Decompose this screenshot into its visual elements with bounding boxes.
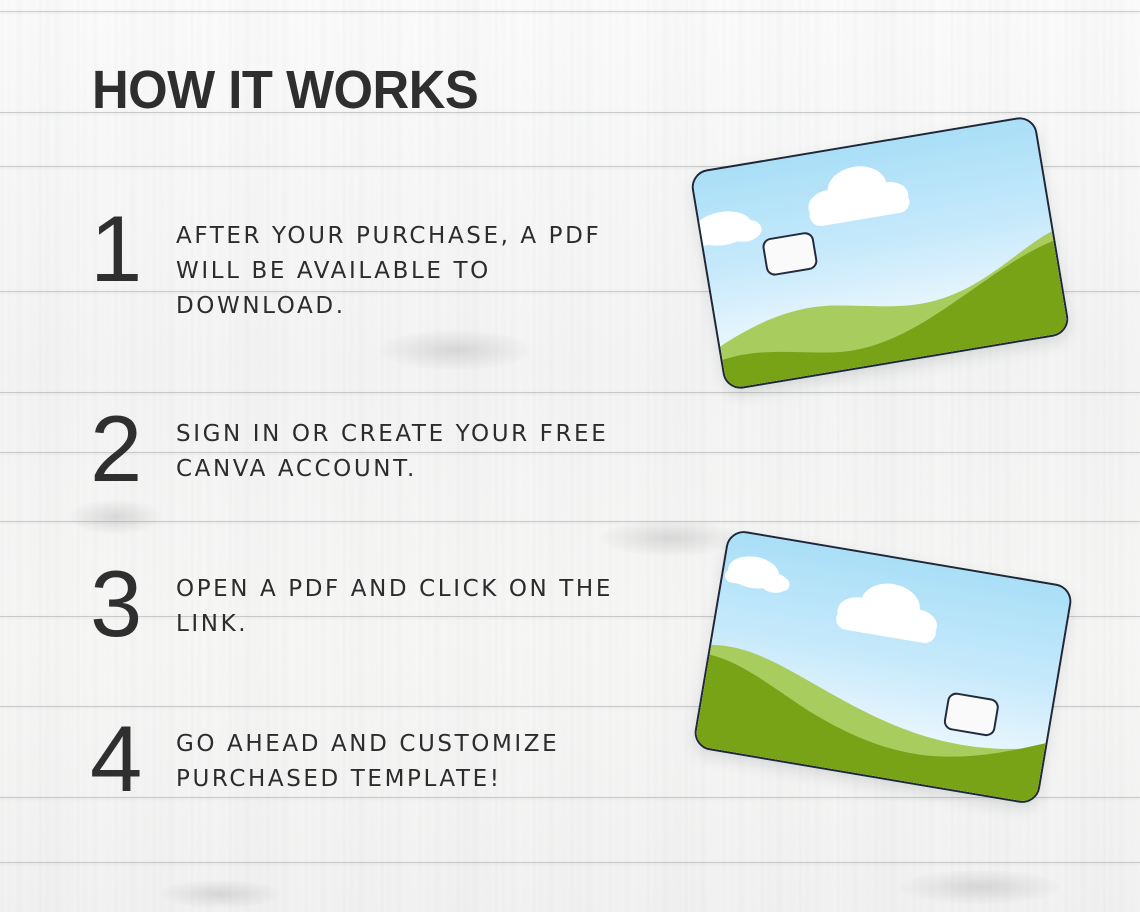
wood-knot <box>380 330 530 370</box>
wood-knot <box>70 500 160 534</box>
step-number: 2 <box>90 405 176 492</box>
poster-canvas: HOW IT WORKS 1 AFTER YOUR PURCHASE, A PD… <box>0 0 1140 912</box>
wood-knot <box>900 870 1060 904</box>
plank-seam <box>0 521 1140 522</box>
step-number: 3 <box>90 560 176 647</box>
plank-seam <box>0 11 1140 12</box>
wood-knot <box>160 880 280 908</box>
plank-seam <box>0 862 1140 863</box>
list-item: 4 GO AHEAD AND CUSTOMIZE PURCHASED TEMPL… <box>90 715 646 802</box>
step-number: 4 <box>90 715 176 802</box>
step-text: OPEN A PDF AND CLICK ON THE LINK. <box>176 560 646 642</box>
list-item: 1 AFTER YOUR PURCHASE, A PDF WILL BE AVA… <box>90 205 646 325</box>
step-number: 1 <box>90 205 176 292</box>
list-item: 3 OPEN A PDF AND CLICK ON THE LINK. <box>90 560 646 647</box>
plank-seam <box>0 392 1140 393</box>
page-title: HOW IT WORKS <box>92 59 478 121</box>
step-text: SIGN IN OR CREATE YOUR FREE CANVA ACCOUN… <box>176 405 646 487</box>
step-text: GO AHEAD AND CUSTOMIZE PURCHASED TEMPLAT… <box>176 715 646 797</box>
wood-knot <box>600 520 740 556</box>
list-item: 2 SIGN IN OR CREATE YOUR FREE CANVA ACCO… <box>90 405 646 492</box>
step-text: AFTER YOUR PURCHASE, A PDF WILL BE AVAIL… <box>176 205 646 325</box>
